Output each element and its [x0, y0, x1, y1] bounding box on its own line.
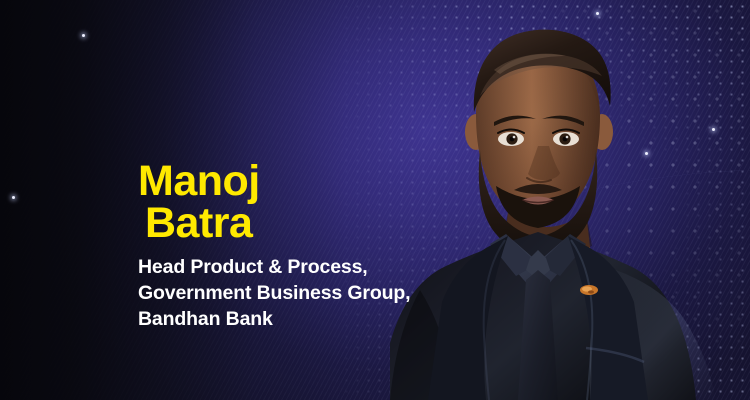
speaker-name-line2: Batra	[138, 202, 438, 244]
sparkle-icon	[82, 34, 85, 37]
speaker-title-line3: Bandhan Bank	[138, 307, 438, 333]
speaker-portrait	[390, 0, 750, 400]
lapel-pin-icon	[580, 285, 598, 295]
speaker-title-line1: Head Product & Process,	[138, 255, 438, 281]
speaker-banner: ManojBatra Head Product & Process, Gover…	[0, 0, 750, 400]
sparkle-icon	[12, 196, 15, 199]
speaker-info: ManojBatra Head Product & Process, Gover…	[138, 160, 438, 333]
speaker-title-line2: Government Business Group,	[138, 281, 438, 307]
speaker-title: Head Product & Process, Government Busin…	[138, 255, 438, 333]
speaker-name: ManojBatra	[138, 160, 438, 244]
speaker-name-line1: Manoj	[138, 157, 260, 205]
